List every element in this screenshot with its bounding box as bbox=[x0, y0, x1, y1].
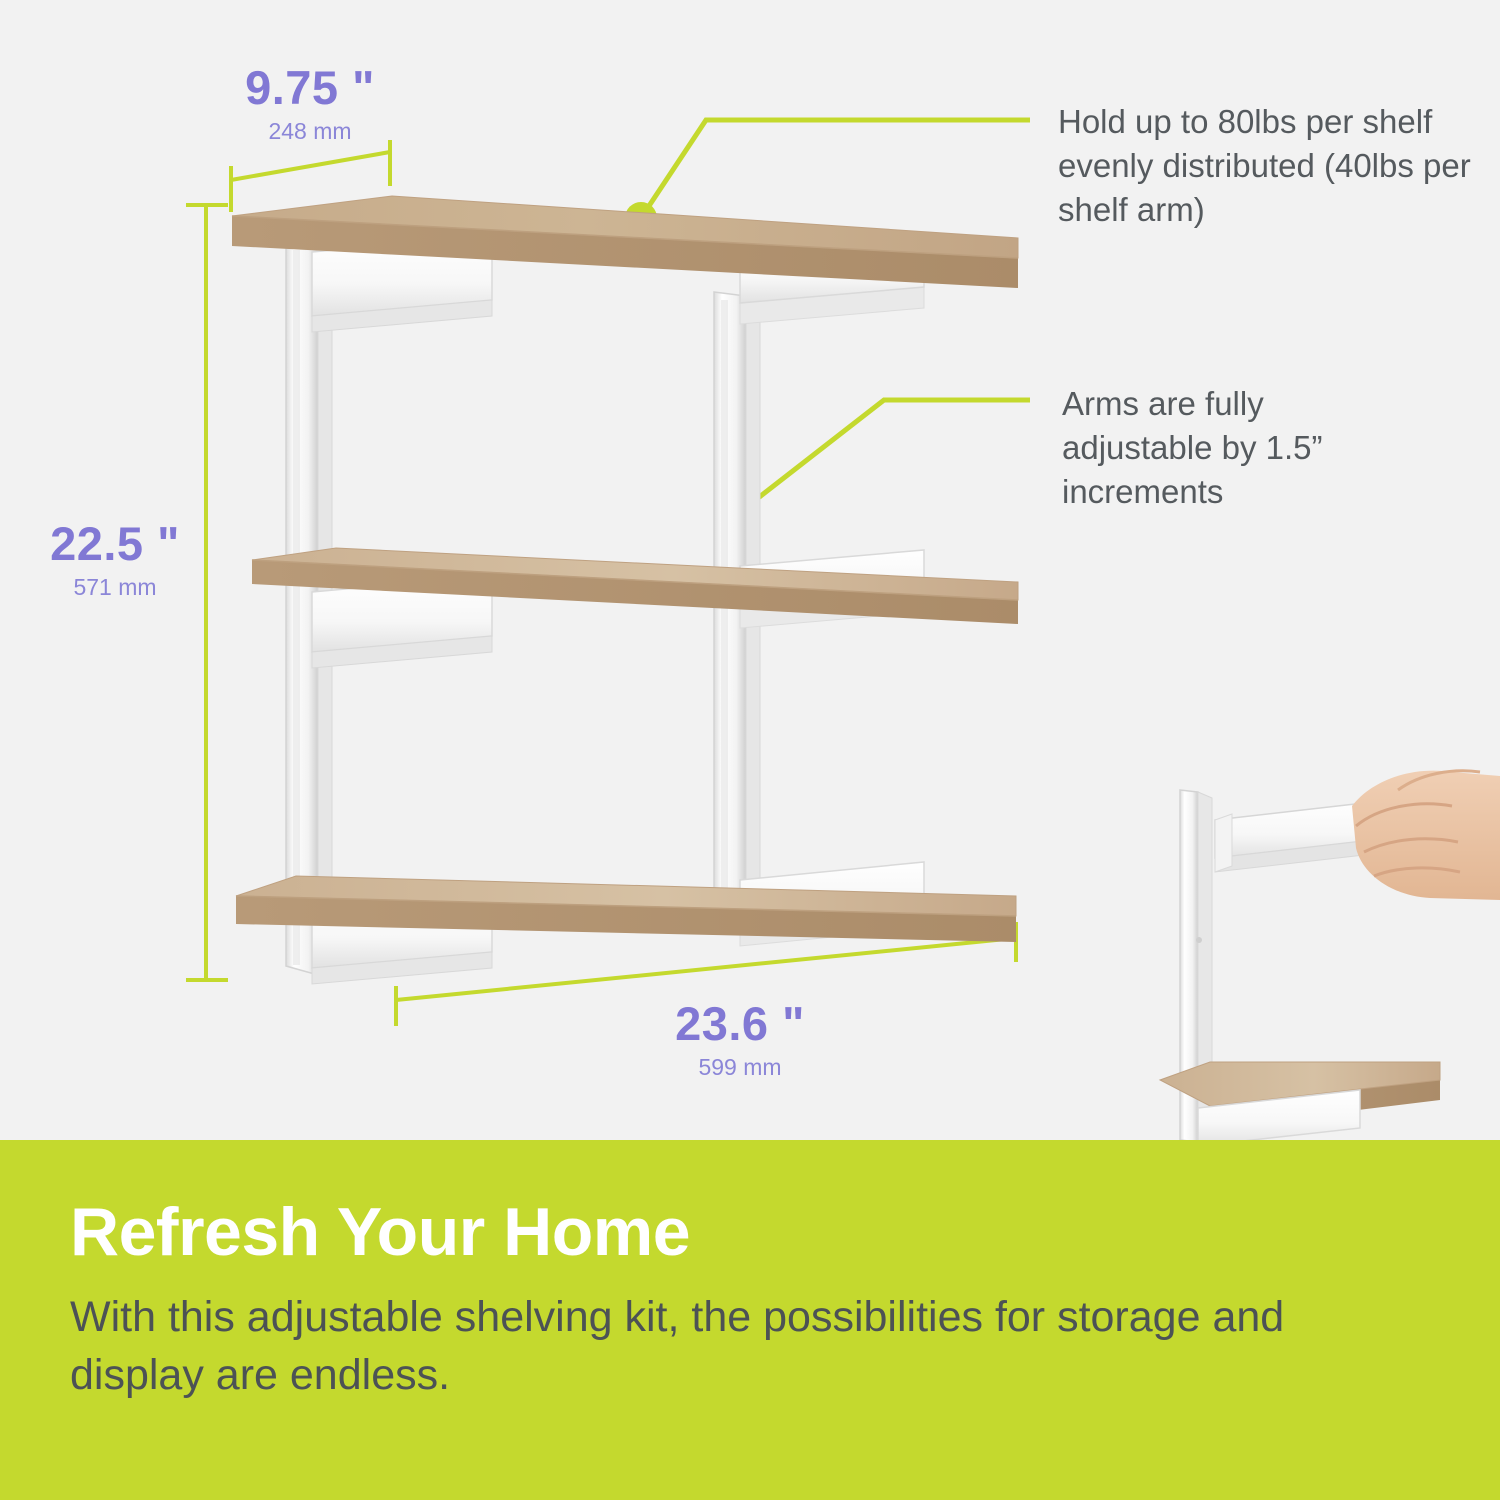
dimension-shelf-length-mm: 599 mm bbox=[620, 1056, 860, 1079]
hand bbox=[1352, 771, 1500, 900]
installation-illustration bbox=[1160, 771, 1500, 1140]
dimension-shelf-depth-mm: 248 mm bbox=[200, 120, 420, 143]
callout-capacity-text: Hold up to 80lbs per shelf evenly distri… bbox=[1058, 100, 1488, 232]
product-illustration: 9.75 " 248 mm 22.5 " 571 mm 23.6 " 599 m… bbox=[0, 0, 1500, 1140]
dimension-shelf-length: 23.6 " 599 mm bbox=[620, 1000, 860, 1079]
shelf-installed-lower bbox=[1160, 1062, 1440, 1140]
callout-adjustable-text: Arms are fully adjustable by 1.5” increm… bbox=[1062, 382, 1422, 514]
shelf-bottom bbox=[236, 862, 1016, 984]
dimension-shelf-depth: 9.75 " 248 mm bbox=[200, 64, 420, 143]
dimension-overall-height: 22.5 " 571 mm bbox=[10, 520, 220, 599]
product-infographic: 9.75 " 248 mm 22.5 " 571 mm 23.6 " 599 m… bbox=[0, 0, 1500, 1500]
banner-heading: Refresh Your Home bbox=[70, 1198, 1430, 1266]
banner-body: With this adjustable shelving kit, the p… bbox=[70, 1288, 1340, 1404]
shelf-top bbox=[232, 196, 1018, 332]
dimension-shelf-length-inch: 23.6 " bbox=[620, 1000, 860, 1047]
dimension-overall-height-mm: 571 mm bbox=[10, 576, 220, 599]
callout-leader-adjustable bbox=[719, 400, 1030, 532]
dimension-shelf-depth-inch: 9.75 " bbox=[200, 64, 420, 111]
promo-banner: Refresh Your Home With this adjustable s… bbox=[0, 1140, 1500, 1500]
dimension-overall-height-inch: 22.5 " bbox=[10, 520, 220, 567]
shelf-middle bbox=[252, 548, 1018, 668]
